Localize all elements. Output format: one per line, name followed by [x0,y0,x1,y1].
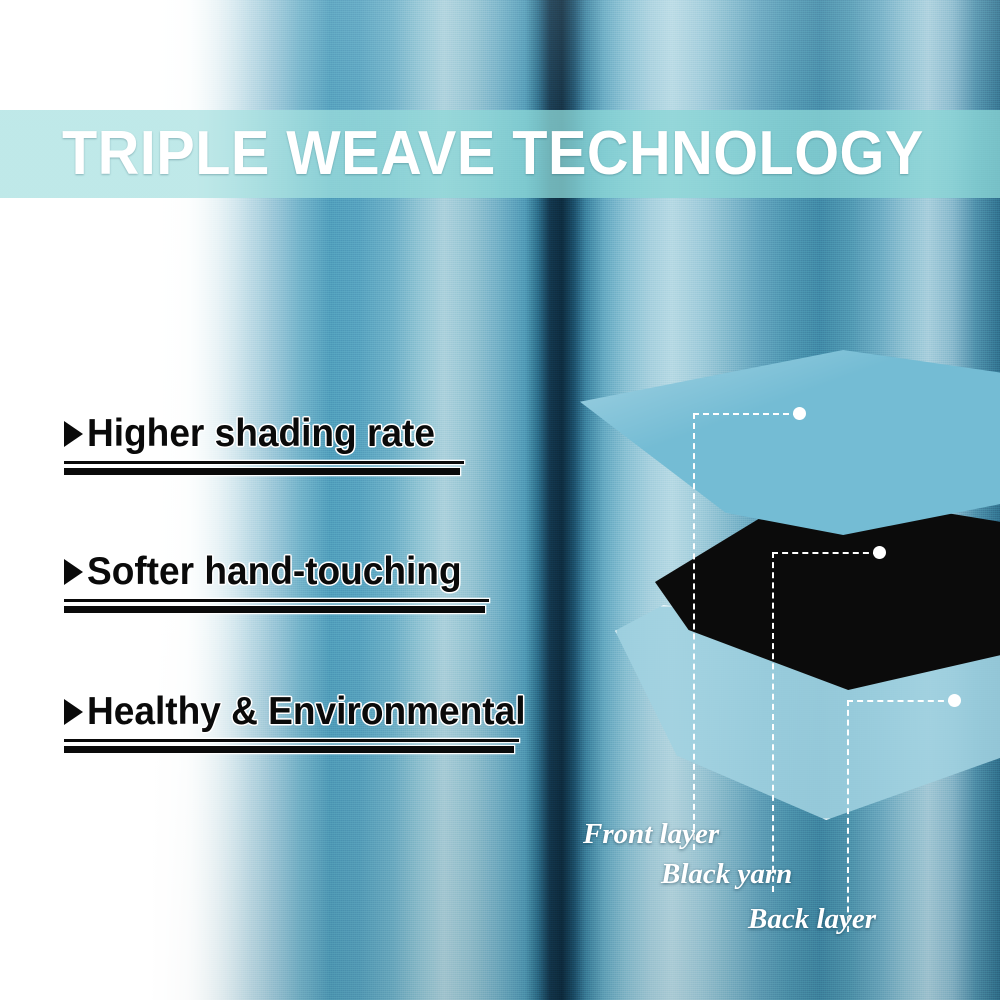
layer-label-front: Front layer [583,818,719,851]
feature-label: Softer hand-touching [87,552,462,592]
leader-dot-black [873,546,886,559]
leader-dot-back [948,694,961,707]
underline-thick [64,468,460,475]
layer-label-black-yarn: Black yarn [661,858,792,891]
leader-dot-front [793,407,806,420]
layer-label-back: Back layer [748,903,876,936]
underline-thin [64,599,489,602]
feature-underline [64,461,464,475]
feature-underline [64,739,519,753]
underline-thick [64,746,514,753]
triangle-bullet-icon [64,421,83,447]
leader-line-back-vertical [847,700,849,932]
leader-line-back-horizontal [847,700,954,702]
layer-front-highlight [580,350,1000,535]
leader-line-black-horizontal [772,552,879,554]
feature-label: Higher shading rate [87,414,435,454]
leader-line-black-vertical [772,552,774,892]
leader-line-front-vertical [693,413,695,850]
triangle-bullet-icon [64,699,83,725]
triple-weave-layer-diagram [560,330,1000,850]
leader-line-front-horizontal [693,413,799,415]
underline-thin [64,739,519,742]
page-title: TRIPLE WEAVE TECHNOLOGY [62,110,927,198]
feature-label: Healthy & Environmental [87,692,526,732]
underline-thick [64,606,485,613]
feature-underline [64,599,489,613]
triangle-bullet-icon [64,559,83,585]
underline-thin [64,461,464,464]
product-feature-image: TRIPLE WEAVE TECHNOLOGY Higher shading r… [0,0,1000,1000]
